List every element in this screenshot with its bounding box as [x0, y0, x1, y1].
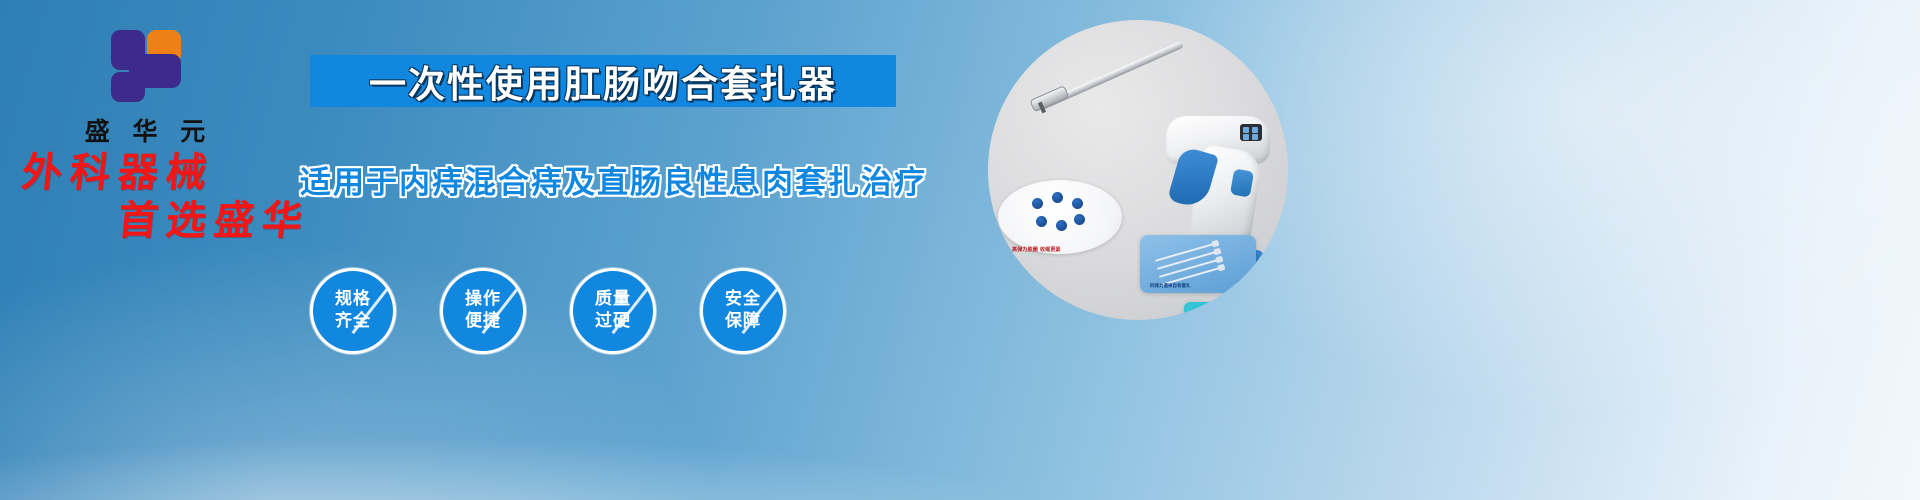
brand-logo[interactable]: 盛 华 元 — [60, 28, 230, 148]
logo-mark-icon — [99, 28, 191, 106]
headline-bar: 一次性使用肛肠吻合套扎器 — [310, 55, 896, 107]
device-tip — [1029, 85, 1069, 112]
port-cell — [1243, 134, 1249, 140]
calligraphy-line-2: 首选盛华 — [116, 200, 312, 242]
ring-dot — [1072, 198, 1083, 209]
badge-1-line-1: 规格 — [335, 289, 371, 311]
ring-dot — [1032, 198, 1043, 209]
badge-4-line-1: 安全 — [725, 289, 761, 311]
feature-badge-4[interactable]: 安全 保障 — [700, 268, 786, 354]
calligraphy-line-1: 外科器械 — [20, 152, 312, 194]
inset-photo-needles: 四排力道米自有套扎 — [1140, 235, 1256, 293]
logo-wordmark: 盛 华 元 — [60, 112, 230, 148]
product-photo: 高弹力胶圈 收缩更紧 四排力道米自有套扎 — [988, 20, 1288, 320]
badge-3-line-1: 质量 — [595, 289, 631, 311]
badge-3-line-2: 过硬 — [595, 311, 631, 333]
device-port-icon — [1240, 124, 1262, 141]
tube-band — [1263, 319, 1267, 320]
inset-photo-tube — [1184, 302, 1288, 320]
port-cell — [1252, 134, 1258, 140]
background-wave — [0, 380, 1920, 500]
feature-badge-1[interactable]: 规格 齐全 — [310, 268, 396, 354]
badge-1-line-2: 齐全 — [335, 311, 371, 333]
inset-needles-caption: 四排力道米自有套扎 — [1150, 283, 1191, 289]
feature-badge-2[interactable]: 操作 便捷 — [440, 268, 526, 354]
ring-dot — [1052, 192, 1063, 203]
ring-dot — [1056, 220, 1067, 231]
logo-shape-d — [111, 72, 145, 102]
ring-dot — [1036, 216, 1047, 227]
tube-band — [1251, 319, 1255, 320]
inset-photo-rings — [998, 180, 1122, 254]
badge-2-line-1: 操作 — [465, 289, 501, 311]
feature-badge-list: 规格 齐全 操作 便捷 质量 过硬 安全 保障 — [310, 268, 870, 364]
page-title: 一次性使用肛肠吻合套扎器 — [369, 54, 837, 108]
badge-4-line-2: 保障 — [725, 311, 761, 333]
calligraphy-slogan: 外科器械 首选盛华 — [22, 152, 310, 242]
tube-body — [1198, 318, 1288, 320]
subtitle: 适用于内痔混合痔及直肠良性息肉套扎治疗 — [300, 157, 900, 202]
ring-dot — [1074, 214, 1085, 225]
badge-2-line-2: 便捷 — [465, 311, 501, 333]
port-cell — [1243, 127, 1249, 133]
inset-rings-caption: 高弹力胶圈 收缩更紧 — [1012, 246, 1061, 253]
feature-badge-3[interactable]: 质量 过硬 — [570, 268, 656, 354]
port-cell — [1252, 127, 1258, 133]
